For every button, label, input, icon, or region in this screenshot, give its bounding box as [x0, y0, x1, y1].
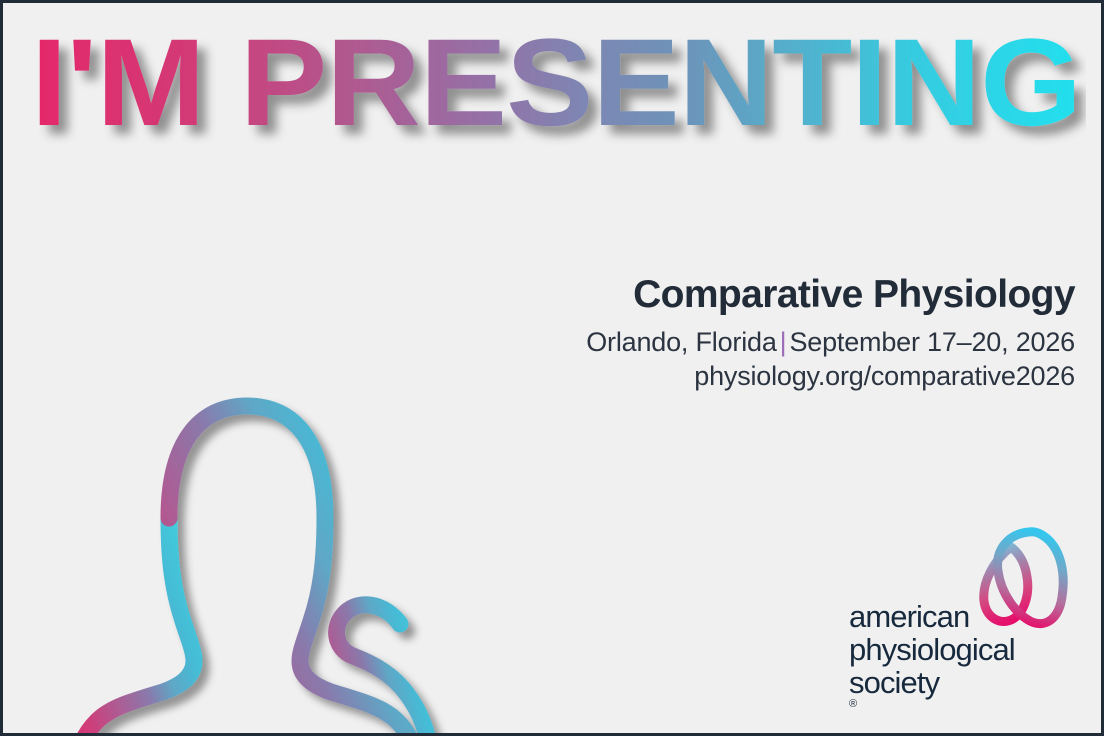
event-title: Comparative Physiology: [455, 273, 1075, 317]
presenter-right-body: [169, 406, 417, 736]
aps-wordmark-line-3: society®: [849, 666, 1075, 711]
aps-logo[interactable]: american physiological society®: [849, 521, 1075, 711]
headline-banner: I'M PRESENTING: [31, 21, 1086, 151]
registered-trademark-icon: ®: [849, 699, 1075, 711]
aps-wordmark-line-1: american: [849, 600, 1075, 633]
event-details-block: Comparative Physiology Orlando, Florida|…: [455, 273, 1075, 392]
event-location: Orlando, Florida: [586, 327, 776, 357]
aps-wordmark-society: society: [849, 666, 1075, 699]
aps-wordmark-line-2: physiological: [849, 633, 1075, 666]
event-separator: |: [777, 327, 790, 357]
aps-wordmark: american physiological society®: [849, 600, 1075, 711]
illustration-svg: [0, 231, 497, 736]
headline-svg: I'M PRESENTING: [31, 21, 1086, 151]
event-dates: September 17–20, 2026: [789, 327, 1075, 357]
event-location-dates: Orlando, Florida|September 17–20, 2026: [455, 327, 1075, 359]
presenter-left-body: [77, 518, 194, 736]
headline-text: I'M PRESENTING: [31, 21, 1081, 151]
event-url[interactable]: physiology.org/comparative2026: [455, 361, 1075, 393]
presenting-announcement-poster: I'M PRESENTING: [0, 0, 1104, 736]
speaker-at-podium-illustration: [0, 231, 497, 736]
